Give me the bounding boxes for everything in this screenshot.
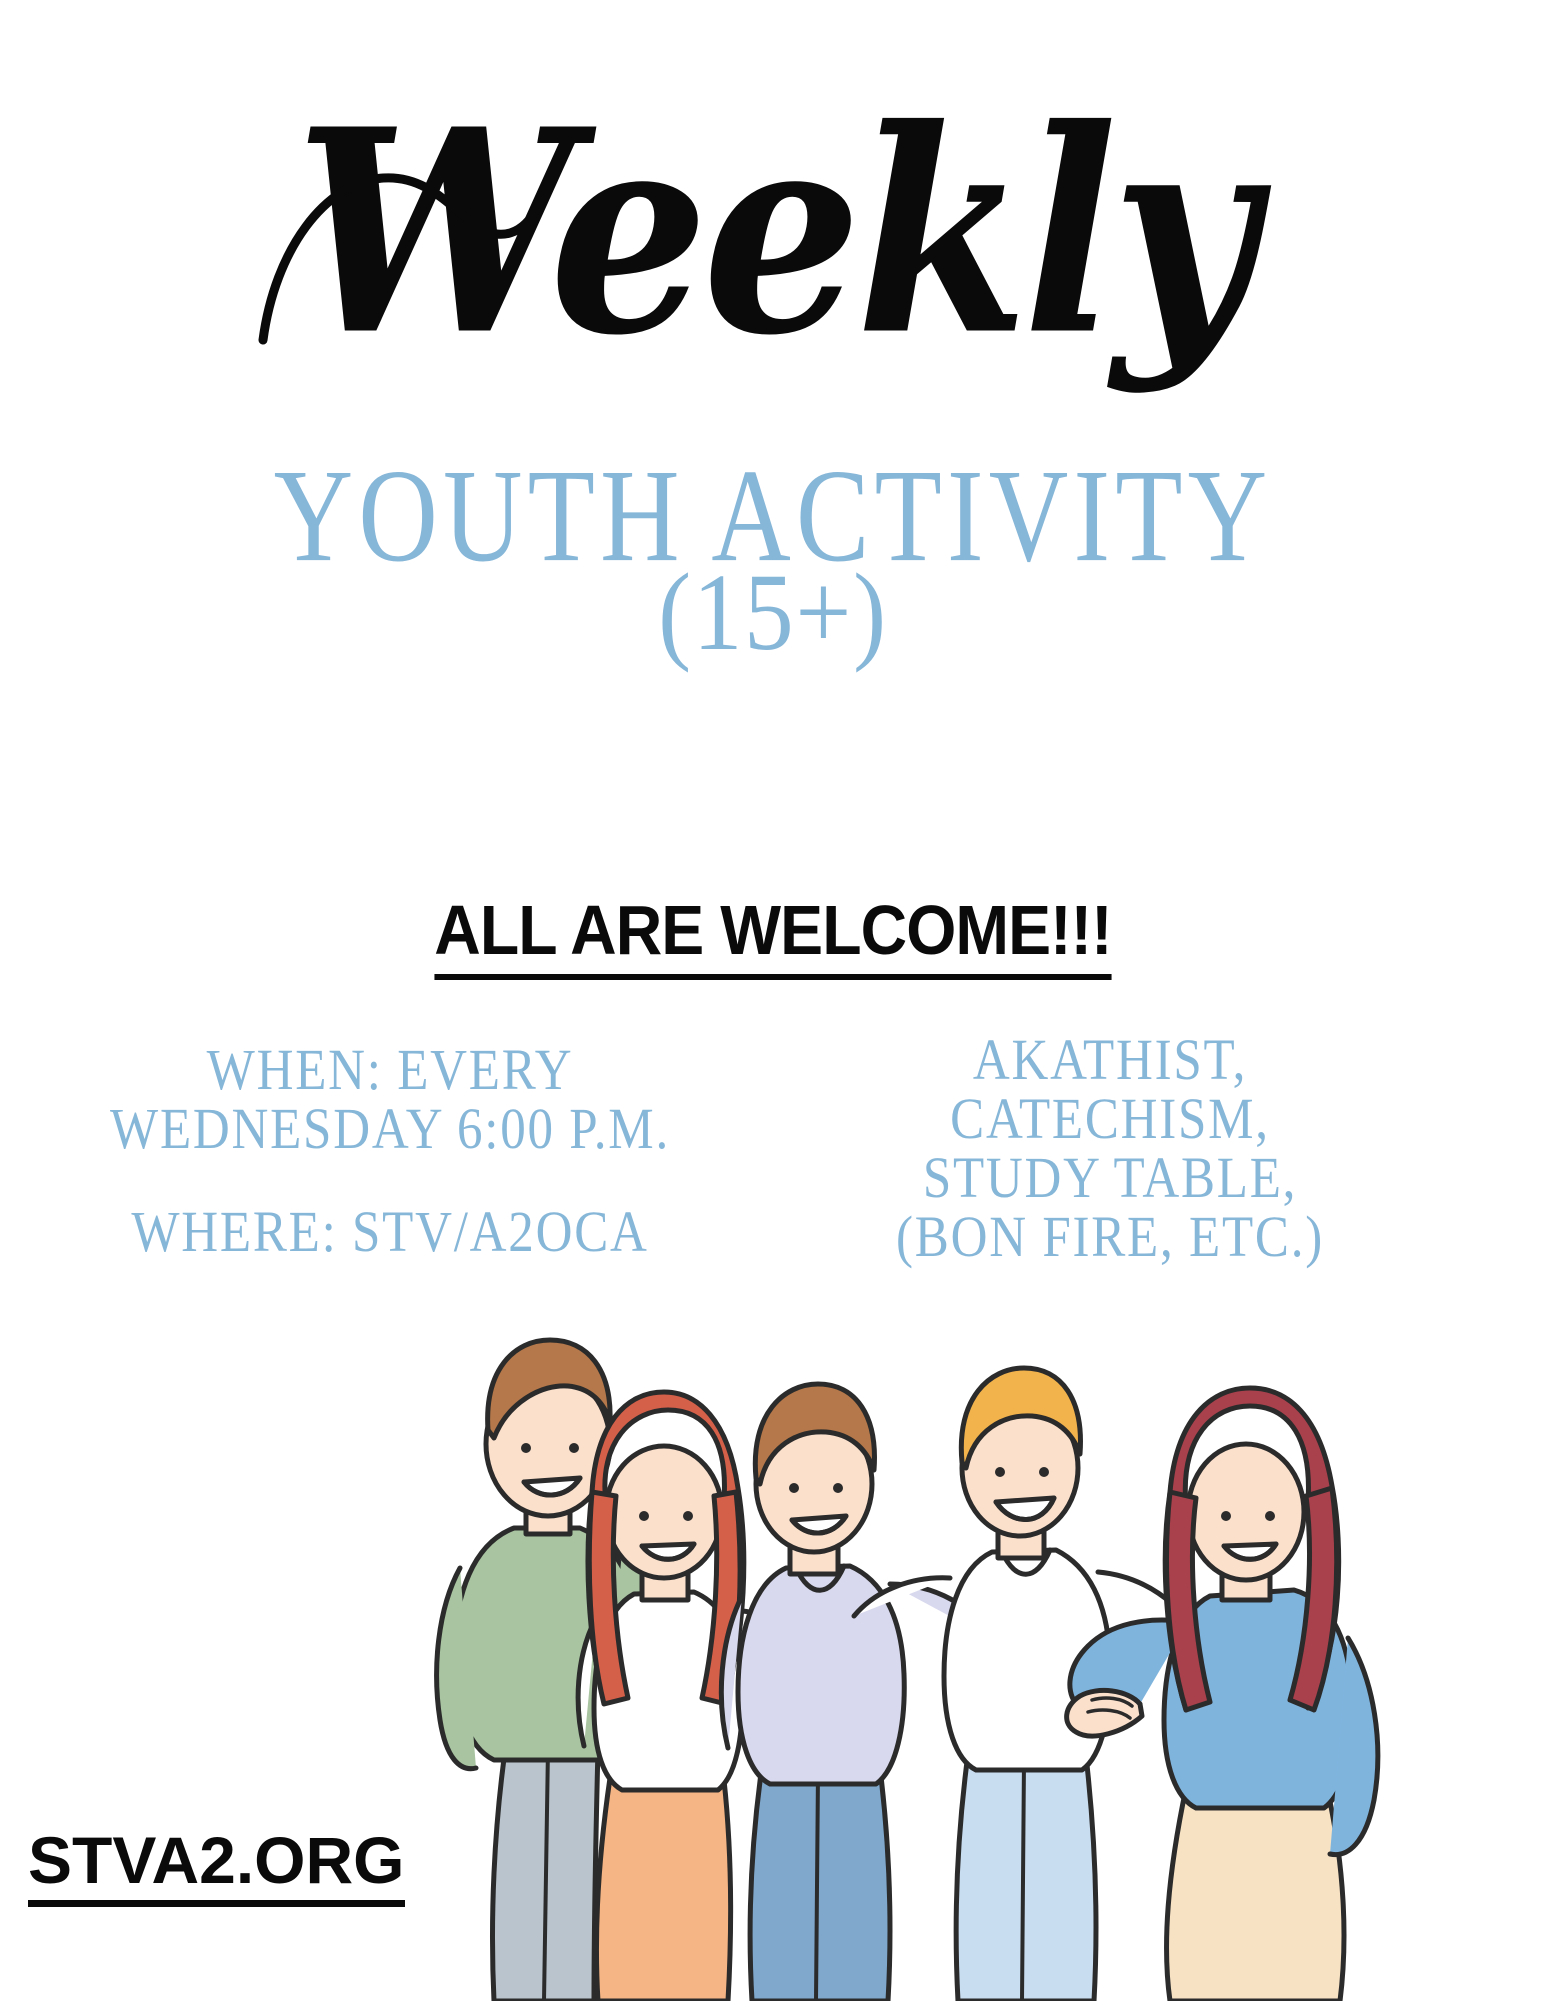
group-of-five-friends-illustration — [398, 1148, 1546, 2001]
activity-line-2: CATECHISM, — [837, 1089, 1383, 1148]
website-url[interactable]: STVA2.ORG — [28, 1822, 405, 1907]
page-title: Weekly — [0, 92, 1546, 372]
when-line-1: WHEN: EVERY — [100, 1040, 681, 1099]
welcome-text: ALL ARE WELCOME!!! — [434, 890, 1111, 980]
heading-age-range: (15+) — [77, 560, 1468, 666]
activity-line-1: AKATHIST, — [837, 1030, 1383, 1089]
poster-canvas: Weekly YOUTH ACTIVITY (15+) ALL ARE WELC… — [0, 0, 1546, 2001]
welcome-banner: ALL ARE WELCOME!!! — [62, 890, 1484, 980]
person-5 — [1067, 1388, 1378, 2001]
